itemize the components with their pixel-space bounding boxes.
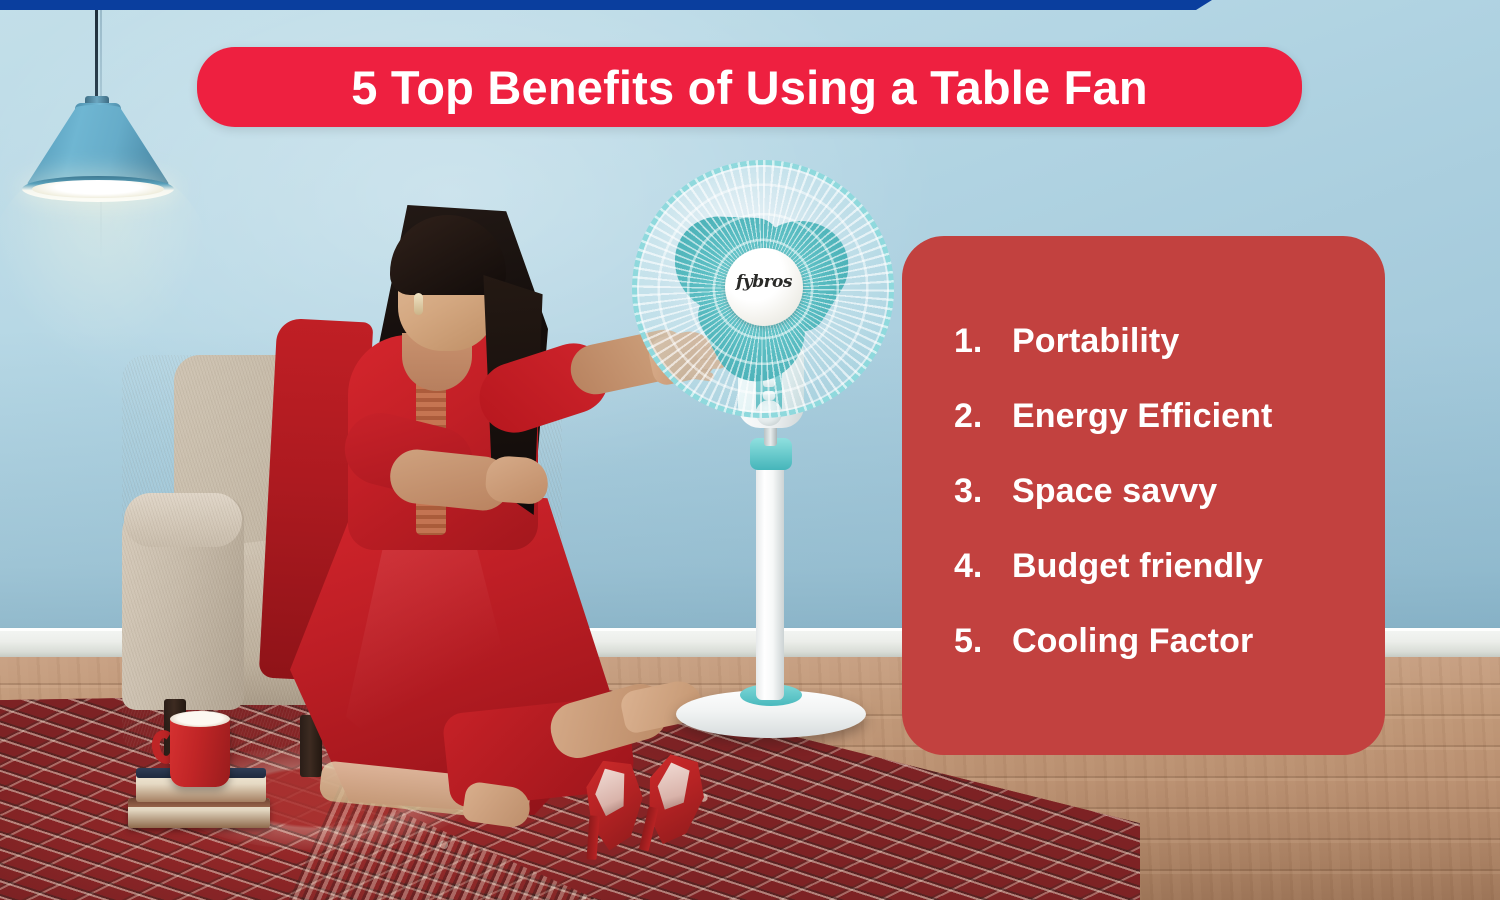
promotional-graphic: fybros 1. Portability 2. Energy Efficien…: [0, 0, 1500, 900]
earring: [414, 293, 423, 315]
benefit-item-3: 3. Space savvy: [954, 472, 1374, 511]
benefit-label: Cooling Factor: [1012, 622, 1253, 661]
top-accent-strip: [0, 0, 1196, 10]
benefit-number: 1.: [954, 322, 1012, 361]
benefit-number: 4.: [954, 547, 1012, 586]
benefit-number: 2.: [954, 397, 1012, 436]
hand-resting: [484, 455, 549, 505]
woman-seated: [250, 185, 680, 785]
benefit-label: Budget friendly: [1012, 547, 1263, 586]
benefit-label: Portability: [1012, 322, 1179, 361]
fybros-brand-logo: fybros: [725, 272, 803, 292]
shoe-heel: [586, 815, 599, 860]
title-banner: 5 Top Benefits of Using a Table Fan: [197, 47, 1302, 127]
mug-rim: [170, 711, 230, 727]
high-heel-shoe: [636, 752, 714, 854]
benefit-item-1: 1. Portability: [954, 322, 1374, 361]
lamp-cord: [95, 0, 98, 98]
benefit-number: 3.: [954, 472, 1012, 511]
fan-head: fybros: [630, 160, 896, 422]
pedestal-fan: fybros: [630, 160, 900, 780]
benefit-number: 5.: [954, 622, 1012, 661]
page-title: 5 Top Benefits of Using a Table Fan: [351, 60, 1148, 115]
lamp-bulb: [32, 180, 164, 198]
fan-pole: [756, 460, 784, 700]
benefit-label: Space savvy: [1012, 472, 1217, 511]
benefit-label: Energy Efficient: [1012, 397, 1272, 436]
benefits-panel: 1. Portability 2. Energy Efficient 3. Sp…: [902, 236, 1385, 755]
benefit-item-4: 4. Budget friendly: [954, 547, 1374, 586]
benefit-item-5: 5. Cooling Factor: [954, 622, 1374, 661]
benefits-list: 1. Portability 2. Energy Efficient 3. Sp…: [954, 322, 1374, 697]
benefit-item-2: 2. Energy Efficient: [954, 397, 1374, 436]
